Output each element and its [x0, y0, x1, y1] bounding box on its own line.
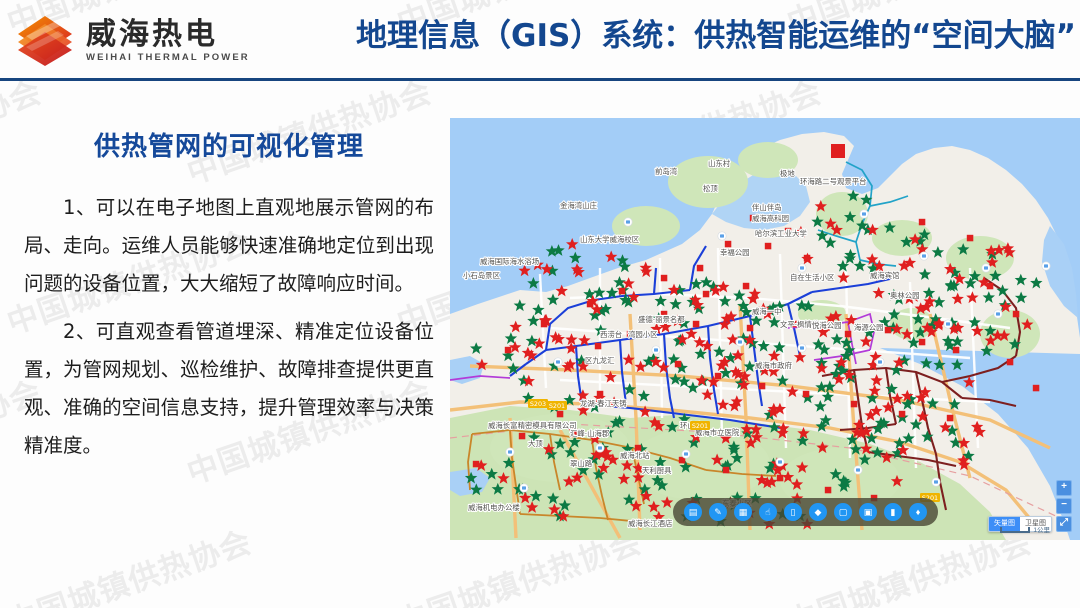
zoom-out-button[interactable]: − [1056, 498, 1072, 514]
map-poi-glyph [996, 312, 1000, 315]
map-label: 伴山伴岛 [752, 203, 782, 212]
map-label: 龙湖·春江天铸 [580, 399, 627, 408]
heat-source-marker[interactable] [947, 415, 954, 422]
heat-source-marker[interactable] [675, 361, 682, 368]
heat-source-marker[interactable] [747, 325, 754, 332]
heat-source-marker[interactable] [845, 331, 852, 338]
map-label: 天利厨具 [642, 466, 672, 475]
heat-source-marker[interactable] [519, 433, 526, 440]
heat-source-marker[interactable] [1033, 385, 1040, 392]
logo-title-en: WEIHAI THERMAL POWER [86, 52, 250, 63]
pick-icon[interactable]: ☝ [759, 503, 777, 521]
map-poi-glyph [856, 468, 860, 471]
page-title: 地理信息（GIS）系统：供热智能运维的“空间大脑” [356, 18, 1076, 55]
query-icon[interactable]: ▦ [734, 503, 752, 521]
map-label: 环海路二号观景平台 [800, 177, 867, 186]
heat-source-marker[interactable] [804, 255, 811, 261]
map-poi-glyph [878, 360, 882, 363]
map-label: 悦海公园 [812, 321, 842, 330]
map-label: 威海长富精密模具有限公司 [488, 421, 577, 430]
map-scale-bar: 1公里 [1000, 524, 1050, 534]
heat-source-marker[interactable] [587, 301, 594, 308]
rhombus-logo-icon [14, 14, 76, 68]
heat-source-marker[interactable] [899, 411, 906, 418]
heat-source-marker[interactable] [1013, 311, 1020, 318]
map-poi-glyph [720, 234, 724, 237]
map-label: 威海宾馆 [870, 271, 900, 280]
map-poi-glyph [862, 212, 866, 215]
map-poi-glyph [946, 322, 950, 325]
map-label: 威海长江酒店 [628, 519, 672, 528]
map-label: 自在生活小区 [790, 273, 835, 282]
heat-source-marker[interactable] [1007, 359, 1014, 366]
map-label: 汇峰·山海郡 [570, 429, 610, 438]
map-poi-glyph [654, 348, 658, 351]
map-poi-glyph [598, 446, 602, 449]
heat-source-marker[interactable] [725, 241, 732, 248]
map-label: 松顶 [703, 184, 718, 193]
heat-source-marker[interactable] [831, 144, 845, 158]
map-label: 盛德·丽景名都 [638, 315, 685, 324]
body-paragraph-2: 2、可直观查看管道埋深、精准定位设备位置，为管网规划、巡检维护、故障排查提供更直… [24, 313, 434, 465]
map-poi-glyph [738, 340, 742, 343]
heat-source-marker[interactable] [619, 288, 626, 295]
heat-source-marker[interactable] [697, 265, 704, 272]
map-poi-glyph [522, 486, 526, 489]
highway-shield-label: S201 [549, 402, 565, 410]
map-label: 奥林公园 [890, 291, 920, 300]
map-label: 极地 [780, 169, 795, 178]
heat-source-marker[interactable] [851, 401, 858, 408]
map-poi-glyph [778, 460, 782, 463]
heat-source-marker[interactable] [557, 411, 564, 418]
heat-source-marker[interactable] [505, 347, 512, 354]
map-poi-glyph [1044, 264, 1048, 267]
report-icon[interactable]: ▯ [784, 503, 802, 521]
map-poi-glyph [684, 452, 688, 455]
note-icon[interactable]: ▣ [859, 503, 877, 521]
map-label: 山东大学威海校区 [580, 235, 640, 244]
map-label: 威海市政府 [755, 361, 793, 370]
heat-source-marker[interactable] [765, 243, 772, 250]
measure-icon[interactable]: ✎ [709, 503, 727, 521]
heat-source-marker[interactable] [723, 467, 730, 474]
layers-icon[interactable]: ▤ [684, 503, 702, 521]
heat-source-marker[interactable] [661, 275, 668, 282]
map-poi-glyph [934, 480, 938, 483]
heat-source-marker[interactable] [541, 321, 548, 328]
device-icon[interactable]: ▢ [834, 503, 852, 521]
highway-shield-label: S201 [692, 422, 708, 430]
heat-source-marker[interactable] [597, 391, 604, 398]
heat-source-marker[interactable] [777, 475, 784, 482]
map-label: 威海北站 [620, 451, 650, 460]
map-label: 海源公园 [854, 323, 884, 332]
map-label: 威海机电办公楼 [468, 503, 520, 512]
map-label: 湾园小区 [628, 330, 658, 339]
section-subtitle: 供热管网的可视化管理 [24, 126, 434, 163]
watermark-text: 中国城镇供热协会 [0, 517, 257, 608]
map-label: 翠山路 [570, 459, 593, 468]
heat-source-marker[interactable] [595, 343, 602, 350]
map-label: 哈尔滨工业大学 [755, 229, 807, 238]
heat-source-marker[interactable] [885, 327, 892, 334]
stats-icon[interactable]: ▮ [884, 503, 902, 521]
heat-source-marker[interactable] [743, 283, 750, 290]
heat-source-marker[interactable] [919, 339, 926, 346]
heat-source-marker[interactable] [825, 487, 832, 494]
heat-source-marker[interactable] [987, 283, 994, 290]
heat-source-marker[interactable] [967, 235, 974, 242]
highway-shield-label: S203 [530, 400, 546, 408]
map-poi-glyph [800, 266, 804, 269]
map-label: 山东村 [708, 159, 731, 168]
slide-header: 威海热电 WEIHAI THERMAL POWER 地理信息（GIS）系统：供热… [0, 0, 1080, 80]
company-logo: 威海热电 WEIHAI THERMAL POWER [14, 14, 250, 68]
map-scale-label: 1公里 [1033, 527, 1050, 534]
heat-source-marker[interactable] [473, 461, 480, 468]
alarm-icon[interactable]: ♦ [909, 503, 927, 521]
map-poi-glyph [508, 450, 512, 453]
heat-source-marker[interactable] [953, 347, 960, 354]
map-label: 威海高科园 [752, 214, 789, 223]
map-poi-glyph [922, 254, 926, 257]
header-divider [0, 78, 1080, 81]
map-label: 区九龙汇 [585, 356, 615, 365]
heat-source-marker[interactable] [919, 219, 926, 226]
zoom-in-button[interactable]: + [1056, 480, 1072, 496]
map-poi-glyph [800, 346, 804, 349]
map-label: 威海一中 [752, 307, 782, 316]
marker-icon[interactable]: ◆ [809, 503, 827, 521]
map-label: 大顶 [528, 439, 543, 448]
left-text-column: 供热管网的可视化管理 1、可以在电子地图上直观地展示管网的布局、走向。运维人员能… [24, 110, 434, 475]
logo-title-cn: 威海热电 [86, 19, 250, 50]
map-poi-glyph [984, 266, 988, 269]
map-label: 威海国际海水浴场 [480, 257, 539, 266]
heat-source-marker[interactable] [715, 373, 722, 380]
heat-source-marker[interactable] [693, 321, 700, 328]
body-paragraph-1: 1、可以在电子地图上直观地展示管网的布局、走向。运维人员能够快速准确地定位到出现… [24, 189, 434, 303]
heat-source-marker[interactable] [703, 291, 710, 298]
map-label: 西涝台 [600, 330, 622, 339]
map-label: 金海湾山庄 [560, 201, 598, 210]
gis-map-panel[interactable]: 金海湾山庄山东大学威海校区威海国际海水浴场小石岛景区山东村松顶极地环海路二号观景… [450, 118, 1080, 540]
map-label: 前岛湾 [655, 167, 678, 176]
fullscreen-button[interactable]: ⤢ [1056, 516, 1072, 532]
zoom-controls[interactable]: + − ⤢ [1056, 480, 1072, 532]
map-label: 小石岛景区 [463, 271, 501, 280]
heat-source-marker[interactable] [803, 391, 810, 398]
heat-source-marker[interactable] [759, 383, 766, 390]
map-toolbar[interactable]: ▤✎▦☝▯◆▢▣▮♦ [673, 498, 938, 526]
slide-root: 中国城镇供热协会中国城镇供热协会中国城镇供热协会中国城镇供热协会中国城镇供热协会… [0, 0, 1080, 608]
map-label: 幸福公园 [720, 248, 750, 257]
map-poi-glyph [626, 220, 630, 223]
map-poi-glyph [556, 360, 560, 363]
map-canvas[interactable]: 金海湾山庄山东大学威海校区威海国际海水浴场小石岛景区山东村松顶极地环海路二号观景… [450, 118, 1080, 540]
